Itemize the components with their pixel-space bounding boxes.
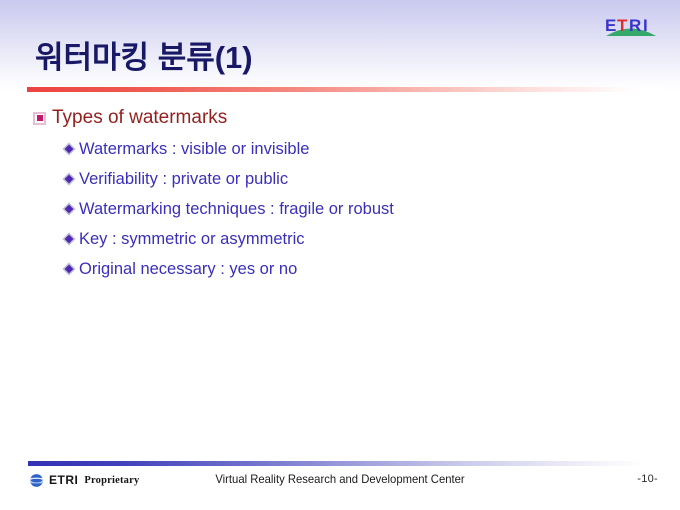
slide-footer: ETRI Proprietary Virtual Reality Researc… <box>0 471 680 493</box>
list-item: Original necessary : yes or no <box>62 257 653 280</box>
list-item-label: Key : symmetric or asymmetric <box>79 229 305 249</box>
diamond-bullet-icon <box>62 232 76 246</box>
footer-center-label: Virtual Reality Research and Development… <box>20 472 659 486</box>
etri-logo: E T R I <box>604 11 658 37</box>
list-item-label: Watermarks : visible or invisible <box>79 139 309 159</box>
diamond-bullet-icon <box>62 262 76 276</box>
presentation-slide: E T R I 워터마킹 분류(1) Types of watermarks W… <box>0 0 680 510</box>
list-item-label: Watermarking techniques : fragile or rob… <box>79 199 394 219</box>
svg-text:E: E <box>605 16 616 35</box>
diamond-bullet-icon <box>62 142 76 156</box>
diamond-bullet-icon <box>62 172 76 186</box>
svg-text:R: R <box>629 16 641 35</box>
svg-text:T: T <box>617 16 628 35</box>
slide-body: Types of watermarks Watermarks : visible… <box>33 106 653 287</box>
list-item-label: Verifiability : private or public <box>79 169 288 189</box>
bullet-level1-types-of-watermarks: Types of watermarks <box>33 106 653 130</box>
page-number: -10- <box>637 473 658 485</box>
slide-title: 워터마킹 분류(1) <box>35 38 253 78</box>
list-item: Verifiability : private or public <box>62 167 653 190</box>
diamond-bullet-icon <box>62 202 76 216</box>
list-item: Key : symmetric or asymmetric <box>62 227 653 250</box>
square-bullet-icon <box>33 112 46 125</box>
svg-text:I: I <box>643 16 648 35</box>
footer-divider <box>28 461 657 466</box>
list-item: Watermarks : visible or invisible <box>62 137 653 160</box>
list-item-label: Original necessary : yes or no <box>79 259 297 279</box>
bullet-level2-list: Watermarks : visible or invisible Verifi… <box>33 137 653 280</box>
bullet-level1-label: Types of watermarks <box>52 107 227 129</box>
title-divider <box>27 87 659 92</box>
list-item: Watermarking techniques : fragile or rob… <box>62 197 653 220</box>
